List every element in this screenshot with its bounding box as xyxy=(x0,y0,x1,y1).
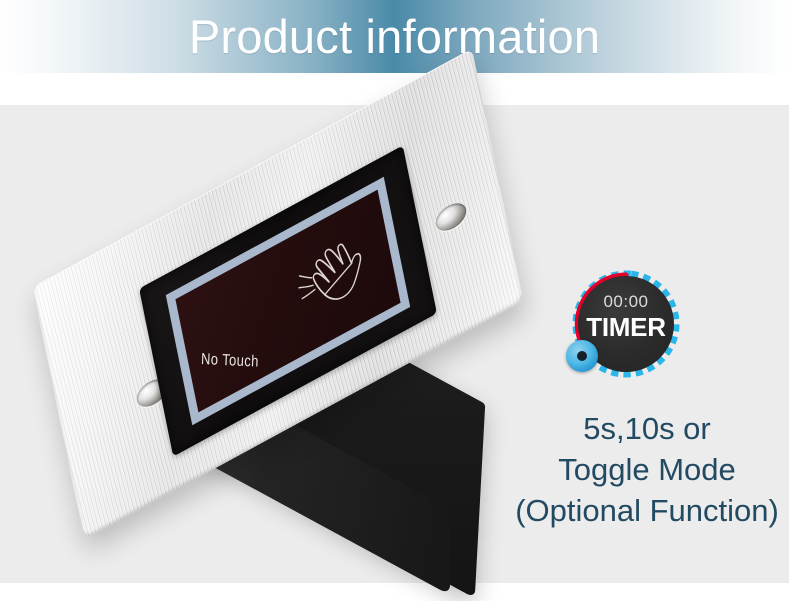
waving-hand-icon xyxy=(286,221,385,337)
header-banner: Product information xyxy=(0,0,789,73)
timer-dial-knob-icon xyxy=(566,340,598,372)
timer-caption: 5s,10s or Toggle Mode (Optional Function… xyxy=(505,408,789,531)
caption-line-3: (Optional Function) xyxy=(505,490,789,531)
caption-line-1: 5s,10s or xyxy=(505,408,789,449)
timer-word-label: TIMER xyxy=(572,312,680,343)
page-title: Product information xyxy=(0,0,789,73)
timer-badge: 00:00 TIMER xyxy=(572,270,680,378)
caption-line-2: Toggle Mode xyxy=(505,449,789,490)
no-touch-label: No Touch xyxy=(201,350,260,371)
product-information-page: Product information xyxy=(0,0,789,601)
timer-time-display: 00:00 xyxy=(572,292,680,312)
